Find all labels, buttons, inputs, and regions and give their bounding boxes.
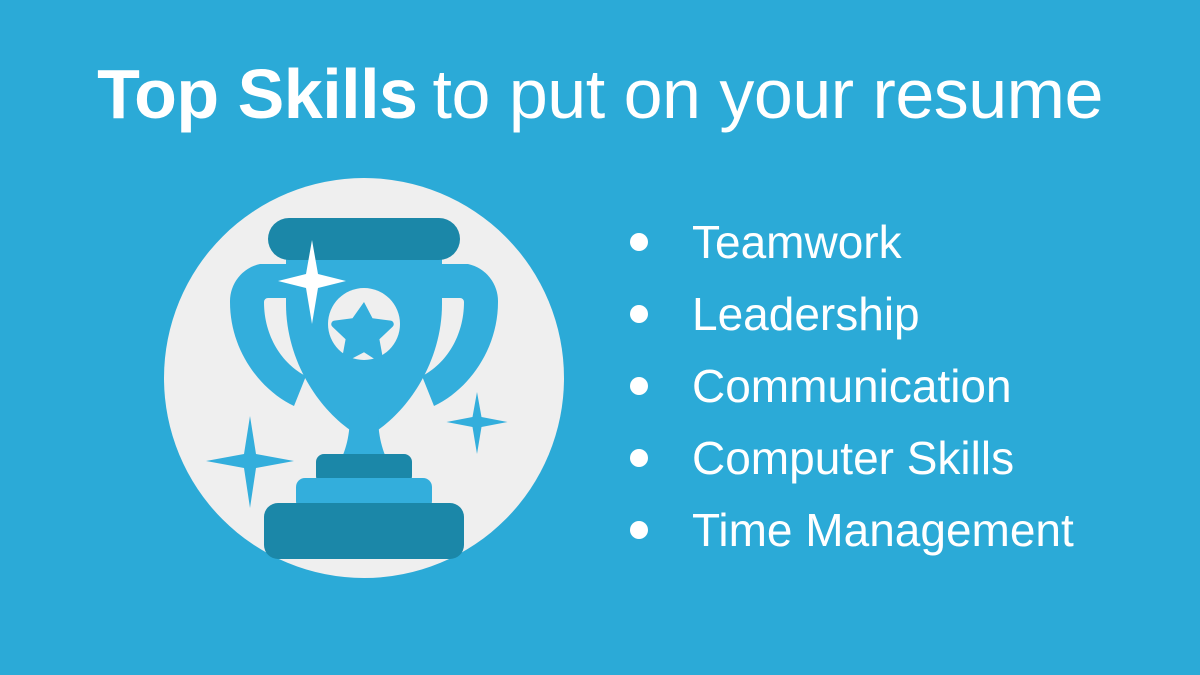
bullet-icon <box>630 449 648 467</box>
skill-label: Leadership <box>692 288 920 340</box>
trophy-base-bottom <box>264 503 464 559</box>
trophy-emblem <box>164 178 564 578</box>
bullet-icon <box>630 305 648 323</box>
title-emphasis: Top Skills <box>97 53 417 135</box>
list-item: Leadership <box>620 278 1160 350</box>
bullet-icon <box>630 521 648 539</box>
bullet-icon <box>630 233 648 251</box>
trophy-rim <box>268 218 460 260</box>
slide-canvas: Top Skills to put on your resume <box>0 0 1200 675</box>
list-item: Communication <box>620 350 1160 422</box>
skill-label: Communication <box>692 360 1012 412</box>
page-title: Top Skills to put on your resume <box>0 48 1200 140</box>
skill-label: Computer Skills <box>692 432 1014 484</box>
bullet-icon <box>630 377 648 395</box>
skill-label: Time Management <box>692 504 1074 556</box>
list-item: Teamwork <box>620 206 1160 278</box>
list-item: Time Management <box>620 494 1160 566</box>
skills-list: Teamwork Leadership Communication Comput… <box>620 206 1160 572</box>
skill-label: Teamwork <box>692 216 902 268</box>
title-rest: to put on your resume <box>433 53 1103 135</box>
list-item: Computer Skills <box>620 422 1160 494</box>
